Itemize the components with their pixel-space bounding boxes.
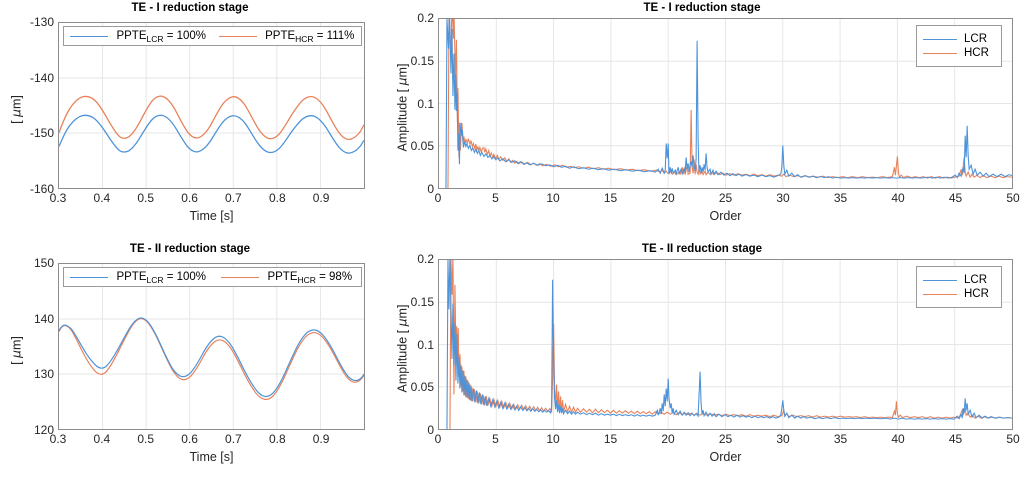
subplot-title: TE - II reduction stage	[380, 243, 1024, 255]
plot-area: LCR HCR	[438, 18, 1013, 189]
legend-entry-lcr: PPTELCR = 100%	[64, 271, 213, 283]
y-tick-label: 0.05	[392, 380, 434, 394]
x-tick-label: 0.9	[313, 191, 330, 205]
legend-swatch-hcr	[219, 36, 257, 37]
y-tick-label: 0.1	[392, 338, 434, 352]
legend-swatch-hcr	[923, 294, 957, 295]
y-tick-label: 140	[14, 312, 54, 326]
y-tick-label: 0	[392, 182, 434, 196]
legend-entry-lcr: PPTELCR = 100%	[64, 30, 213, 42]
y-tick-label: 130	[14, 367, 54, 381]
x-tick-label: 0.6	[181, 191, 198, 205]
x-tick-label: 10	[546, 432, 559, 446]
x-tick-label: 20	[661, 432, 674, 446]
x-tick-label: 35	[834, 432, 847, 446]
legend-entry-hcr: PPTEHCR = 111%	[213, 30, 362, 42]
legend-label-hcr: HCR	[964, 47, 989, 59]
legend-entry-hcr: HCR	[917, 46, 1001, 60]
y-tick-label: -150	[14, 126, 54, 140]
x-axis-label: Time [s]	[58, 450, 365, 464]
legend-entry-lcr: LCR	[917, 273, 1001, 287]
y-tick-label: 0.15	[392, 54, 434, 68]
x-tick-label: 0	[435, 191, 442, 205]
x-tick-label: 0.8	[269, 191, 286, 205]
x-tick-label: 0.6	[181, 432, 198, 446]
x-axis-label: Order	[438, 450, 1013, 464]
x-tick-label: 0.7	[225, 432, 242, 446]
y-tick-label: 0.2	[392, 252, 434, 266]
plot-area: PPTELCR = 100% PPTEHCR = 111%	[58, 22, 365, 189]
x-tick-label: 30	[776, 432, 789, 446]
y-tick-label: -140	[14, 71, 54, 85]
legend-label-lcr: LCR	[964, 33, 987, 45]
legend-entry-hcr: PPTEHCR = 98%	[213, 271, 362, 283]
plot-area: LCR HCR	[438, 259, 1013, 430]
legend-label-hcr: HCR	[964, 288, 989, 300]
x-tick-label: 0.4	[94, 432, 111, 446]
x-tick-label: 30	[776, 191, 789, 205]
series-lcr-line	[59, 318, 364, 397]
x-tick-label: 35	[834, 191, 847, 205]
legend-pp-te: PPTELCR = 100% PPTEHCR = 111%	[63, 26, 362, 46]
y-tick-label: 150	[14, 256, 54, 270]
series-lcr-line	[59, 115, 364, 153]
plot-area: PPTELCR = 100% PPTEHCR = 98%	[58, 263, 365, 430]
x-tick-label: 0.5	[137, 432, 154, 446]
y-tick-label: 0.1	[392, 97, 434, 111]
x-axis-label: Order	[438, 209, 1013, 223]
x-tick-label: 20	[661, 191, 674, 205]
x-tick-label: 0.3	[50, 191, 67, 205]
legend-label-lcr: PPTELCR = 100%	[116, 30, 206, 42]
y-tick-label: 120	[14, 423, 54, 437]
subplot-te-ii-time: TE - II reduction stage [ μm] 150 140 13…	[0, 241, 380, 482]
y-tick-label: -160	[14, 182, 54, 196]
x-axis-label: Time [s]	[58, 209, 365, 223]
subplot-te-ii-order: TE - II reduction stage Amplitude [ μm] …	[380, 241, 1024, 482]
x-tick-label: 0.9	[313, 432, 330, 446]
y-tick-label: 0	[392, 423, 434, 437]
legend-label-hcr: PPTEHCR = 111%	[265, 30, 354, 42]
y-tick-label: 0.2	[392, 11, 434, 25]
subplot-te-i-order: TE - I reduction stage Amplitude [ μm] 0…	[380, 0, 1024, 241]
x-tick-label: 10	[546, 191, 559, 205]
x-tick-label: 45	[949, 191, 962, 205]
y-tick-label: 0.15	[392, 295, 434, 309]
x-tick-label: 45	[949, 432, 962, 446]
x-tick-label: 40	[891, 432, 904, 446]
subplot-te-i-time: TE - I reduction stage [ μm] -130 -140 -…	[0, 0, 380, 241]
legend-label-lcr: LCR	[964, 274, 987, 286]
legend-label-hcr: PPTEHCR = 98%	[267, 271, 352, 283]
legend-swatch-hcr	[221, 277, 259, 278]
subplot-title: TE - I reduction stage	[0, 2, 380, 14]
legend-entry-hcr: HCR	[917, 287, 1001, 301]
x-tick-label: 5	[492, 191, 499, 205]
x-tick-label: 40	[891, 191, 904, 205]
x-tick-label: 50	[1006, 432, 1019, 446]
x-tick-label: 0.8	[269, 432, 286, 446]
y-tick-label: -130	[14, 15, 54, 29]
legend-swatch-lcr	[70, 277, 108, 278]
x-tick-label: 15	[604, 191, 617, 205]
x-tick-label: 0.4	[94, 191, 111, 205]
x-tick-label: 50	[1006, 191, 1019, 205]
x-tick-label: 5	[492, 432, 499, 446]
legend-entry-lcr: LCR	[917, 32, 1001, 46]
x-tick-label: 25	[719, 432, 732, 446]
figure-canvas: TE - I reduction stage [ μm] -130 -140 -…	[0, 0, 1024, 482]
x-tick-label: 0	[435, 432, 442, 446]
x-tick-label: 0.7	[225, 191, 242, 205]
x-tick-label: 15	[604, 432, 617, 446]
legend-swatch-lcr	[923, 280, 957, 281]
legend-swatch-lcr	[70, 36, 108, 37]
subplot-title: TE - II reduction stage	[0, 243, 380, 255]
y-tick-label: 0.05	[392, 139, 434, 153]
x-tick-label: 0.5	[137, 191, 154, 205]
subplot-title: TE - I reduction stage	[380, 2, 1024, 14]
x-tick-label: 25	[719, 191, 732, 205]
legend-label-lcr: PPTELCR = 100%	[116, 271, 206, 283]
legend-series: LCR HCR	[916, 25, 1002, 67]
legend-swatch-lcr	[923, 39, 957, 40]
legend-series: LCR HCR	[916, 266, 1002, 308]
legend-swatch-hcr	[923, 53, 957, 54]
x-tick-label: 0.3	[50, 432, 67, 446]
legend-pp-te: PPTELCR = 100% PPTEHCR = 98%	[63, 267, 362, 287]
